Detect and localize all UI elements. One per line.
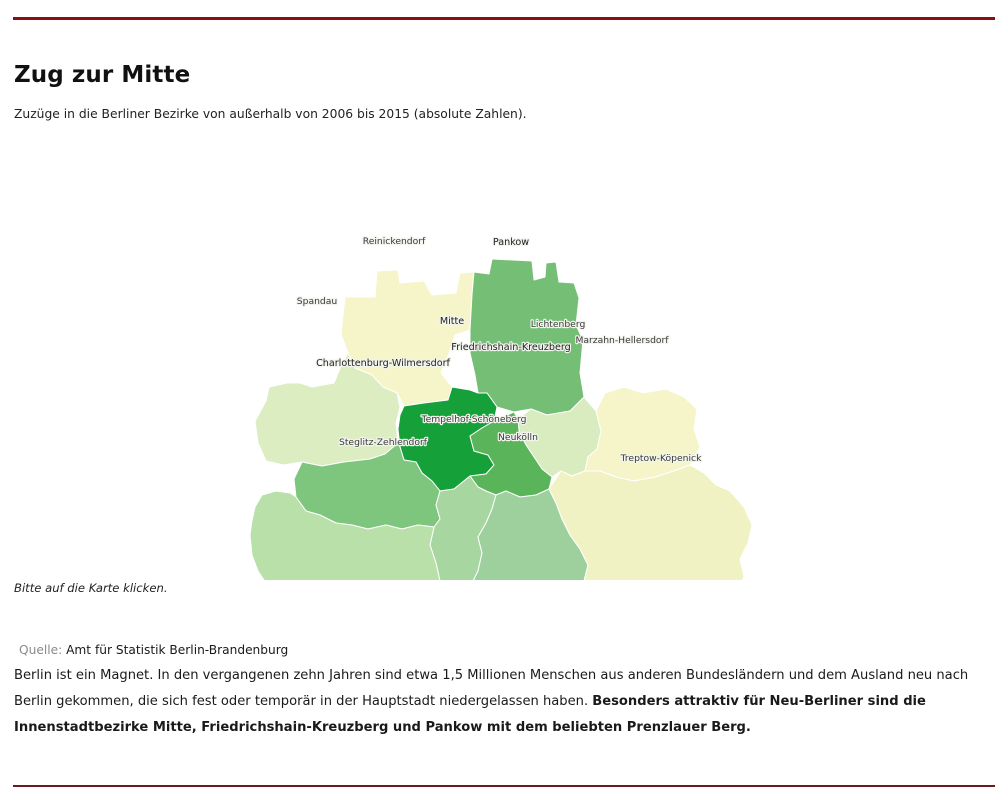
region-pankow[interactable] <box>470 259 584 415</box>
map-label-lichtenberg: Lichtenberg <box>531 319 586 330</box>
article-page: Zug zur Mitte Zuzüge in die Berliner Bez… <box>0 0 1008 800</box>
map-label-reinickendorf: Reinickendorf <box>363 236 426 247</box>
map-label-tempelhof-schoeneberg: Tempelhof-Schöneberg <box>421 414 527 425</box>
article-body: Berlin ist ein Magnet. In den vergangene… <box>14 663 994 741</box>
map-label-charlottenburg-wilmersdorf: Charlottenburg-Wilmersdorf <box>316 358 450 369</box>
map-click-hint: Bitte auf die Karte klicken. <box>14 581 168 595</box>
berlin-choropleth-map[interactable]: Reinickendorf Pankow Spandau Mitte Licht… <box>0 125 1008 580</box>
map-label-mitte: Mitte <box>440 316 464 327</box>
map-label-treptow-koepenick: Treptow-Köpenick <box>620 453 702 464</box>
page-subtitle: Zuzüge in die Berliner Bezirke von außer… <box>14 107 527 121</box>
bottom-rule <box>13 785 995 787</box>
map-label-marzahn-hellersdorf: Marzahn-Hellersdorf <box>575 335 669 346</box>
source-line: Quelle: Amt für Statistik Berlin-Branden… <box>19 643 288 657</box>
source-label: Quelle: <box>19 643 62 657</box>
map-label-spandau: Spandau <box>297 296 337 307</box>
top-rule <box>13 17 995 20</box>
map-label-neukoelln: Neukölln <box>498 432 538 443</box>
source-value: Amt für Statistik Berlin-Brandenburg <box>62 643 288 657</box>
page-title: Zug zur Mitte <box>14 62 190 88</box>
map-svg[interactable]: Reinickendorf Pankow Spandau Mitte Licht… <box>0 125 1008 580</box>
region-marzahn-hellersdorf[interactable] <box>585 387 700 481</box>
map-label-steglitz-zehlendorf: Steglitz-Zehlendorf <box>339 437 428 448</box>
map-label-pankow: Pankow <box>493 237 529 248</box>
map-label-friedrichshain-kreuzberg: Friedrichshain-Kreuzberg <box>451 342 570 353</box>
